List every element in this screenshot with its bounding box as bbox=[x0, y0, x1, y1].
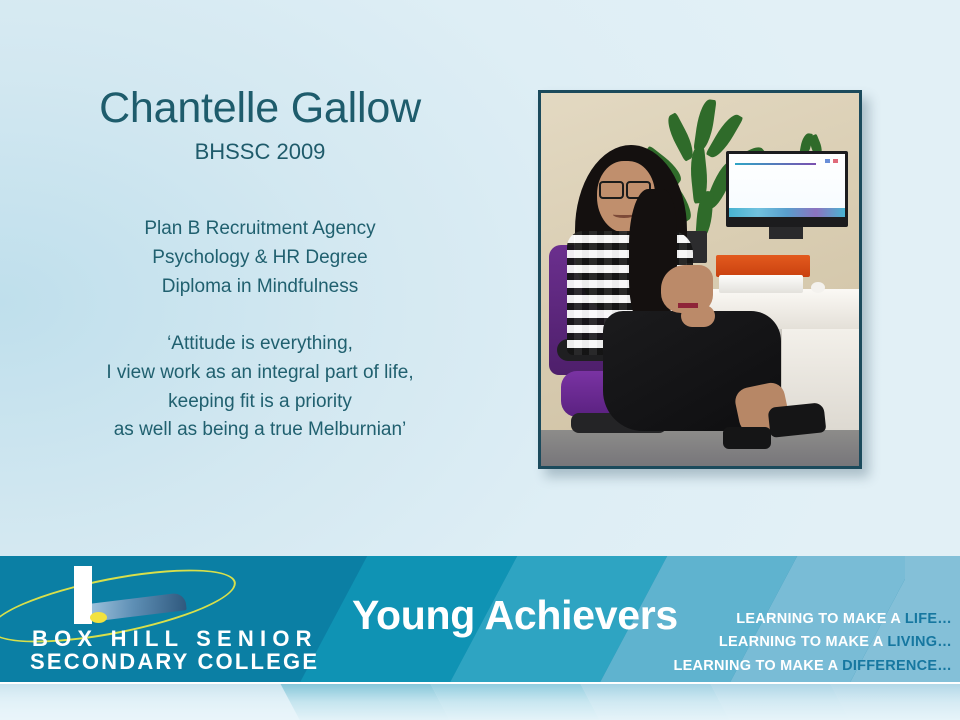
banner-title: Young Achievers bbox=[352, 592, 678, 639]
page-title: Chantelle Gallow bbox=[0, 86, 520, 131]
profile-quote: ‘Attitude is everything, I view work as … bbox=[0, 330, 520, 446]
logo-dot-icon bbox=[90, 612, 107, 623]
profile-cohort: BHSSC 2009 bbox=[0, 139, 520, 165]
tagline-prefix: LEARNING TO MAKE A bbox=[736, 611, 905, 627]
photo-floor bbox=[541, 430, 859, 466]
banner-reflection: BOX HILL SENIOR SECONDARY COLLEGE LEARNI… bbox=[0, 684, 960, 720]
profile-photo bbox=[538, 90, 862, 469]
photo-content bbox=[541, 93, 859, 466]
photo-red-folder bbox=[716, 255, 810, 277]
school-logo: BOX HILL SENIOR SECONDARY COLLEGE bbox=[18, 564, 338, 676]
photo-mouse bbox=[811, 282, 825, 293]
profile-quote-line: I view work as an integral part of life, bbox=[0, 359, 520, 388]
tagline-prefix: LEARNING TO MAKE A bbox=[674, 658, 843, 674]
profile-detail-line: Plan B Recruitment Agency bbox=[0, 215, 520, 244]
reflection-fade-overlay bbox=[0, 684, 960, 720]
photo-person-boot-back bbox=[723, 427, 771, 449]
tagline-row: LEARNING TO MAKE A LIVING… bbox=[674, 631, 952, 654]
photo-person-boot bbox=[768, 402, 827, 438]
profile-quote-line: keeping fit is a priority bbox=[0, 388, 520, 417]
tagline-highlight: LIVING… bbox=[887, 634, 952, 650]
tagline-row: LEARNING TO MAKE A DIFFERENCE… bbox=[674, 655, 952, 678]
photo-monitor bbox=[726, 151, 848, 227]
tagline-highlight: LIFE… bbox=[905, 611, 952, 627]
profile-text-column: Chantelle Gallow BHSSC 2009 Plan B Recru… bbox=[0, 86, 520, 445]
presentation-slide: Chantelle Gallow BHSSC 2009 Plan B Recru… bbox=[0, 0, 960, 720]
profile-detail-line: Diploma in Mindfulness bbox=[0, 273, 520, 302]
profile-detail-line: Psychology & HR Degree bbox=[0, 244, 520, 273]
photo-person-wristband bbox=[678, 303, 698, 308]
photo-monitor-stand bbox=[769, 227, 803, 239]
school-taglines: LEARNING TO MAKE A LIFE… LEARNING TO MAK… bbox=[674, 608, 952, 678]
photo-keyboard bbox=[719, 275, 803, 293]
footer-banner: BOX HILL SENIOR SECONDARY COLLEGE Young … bbox=[0, 556, 960, 683]
logo-text-line2: SECONDARY COLLEGE bbox=[30, 649, 319, 675]
profile-quote-line: as well as being a true Melburnian’ bbox=[0, 416, 520, 445]
profile-details: Plan B Recruitment Agency Psychology & H… bbox=[0, 215, 520, 302]
tagline-row: LEARNING TO MAKE A LIFE… bbox=[674, 608, 952, 631]
photo-person-hand bbox=[681, 305, 715, 327]
profile-quote-line: ‘Attitude is everything, bbox=[0, 330, 520, 359]
reflection-clip: BOX HILL SENIOR SECONDARY COLLEGE LEARNI… bbox=[0, 684, 960, 720]
tagline-highlight: DIFFERENCE… bbox=[842, 658, 952, 674]
tagline-prefix: LEARNING TO MAKE A bbox=[719, 634, 888, 650]
photo-screen-taskbar bbox=[729, 208, 845, 217]
